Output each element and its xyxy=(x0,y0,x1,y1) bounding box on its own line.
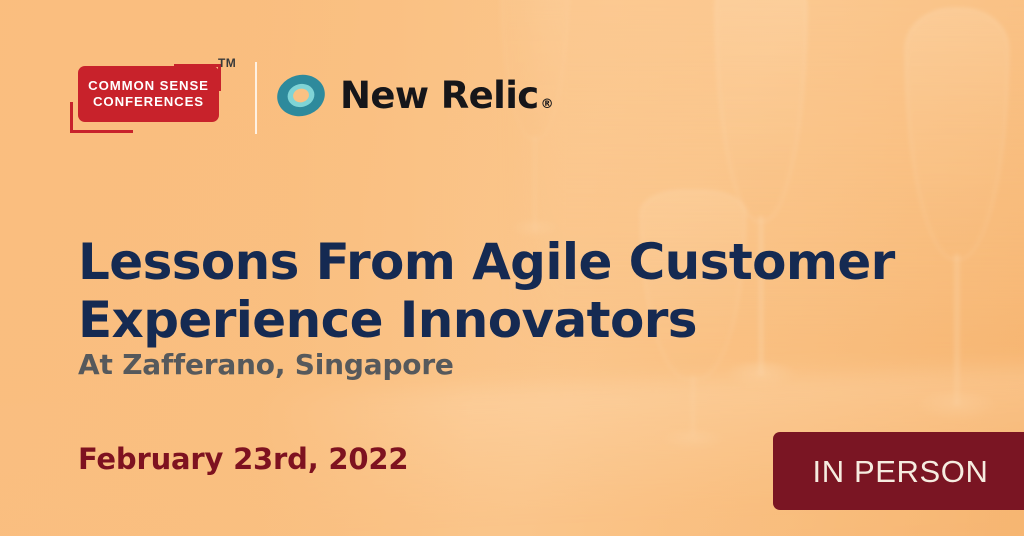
status-badge-label: IN PERSON xyxy=(813,456,989,487)
new-relic-logo: New Relic ® xyxy=(276,66,553,124)
banner-content: COMMON SENSE CONFERENCES TM New Relic ® xyxy=(0,0,1024,536)
event-date: February 23rd, 2022 xyxy=(78,442,408,477)
registered-trademark-icon: ® xyxy=(541,98,553,111)
logo-line-2: CONFERENCES xyxy=(93,95,204,109)
trademark-icon: TM xyxy=(218,56,236,70)
new-relic-wordmark: New Relic ® xyxy=(340,77,553,114)
event-location: At Zafferano, Singapore xyxy=(78,348,454,382)
common-sense-conferences-logo: COMMON SENSE CONFERENCES TM xyxy=(70,52,230,138)
page-title: Lessons From Agile Customer Experience I… xyxy=(78,233,948,349)
new-relic-ring-icon xyxy=(276,72,326,119)
logo-plate: COMMON SENSE CONFERENCES xyxy=(78,66,219,122)
new-relic-wordmark-text: New Relic xyxy=(340,77,539,114)
headline-line-1: Lessons From Agile Customer xyxy=(78,233,948,291)
status-badge: IN PERSON xyxy=(773,432,1024,510)
logo-divider xyxy=(255,62,257,134)
logo-line-1: COMMON SENSE xyxy=(88,79,209,93)
event-promo-banner: COMMON SENSE CONFERENCES TM New Relic ® xyxy=(0,0,1024,536)
headline-line-2: Experience Innovators xyxy=(78,291,948,349)
